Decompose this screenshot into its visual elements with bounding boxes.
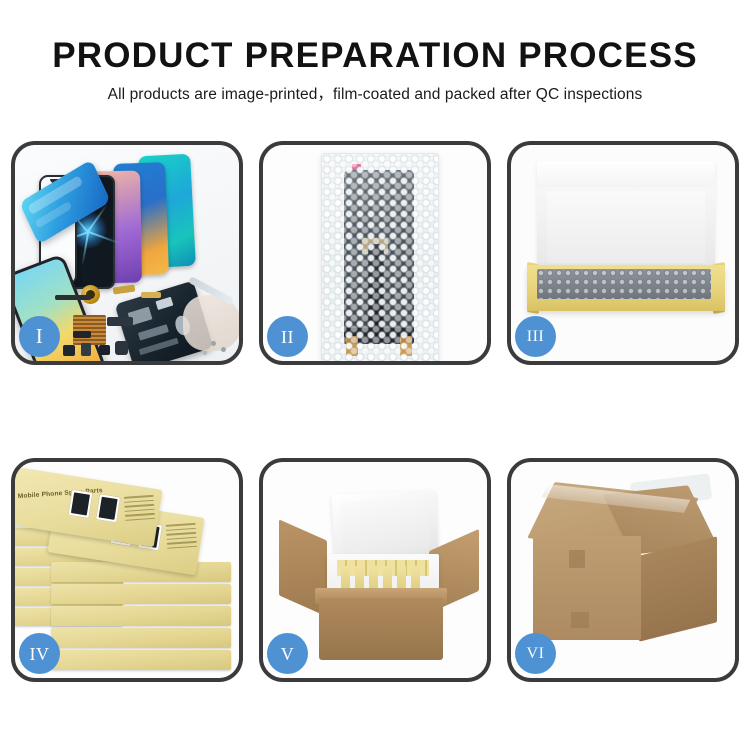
mesh-component-icon [73, 315, 106, 345]
bubble-texture [322, 154, 438, 361]
flex-cable-icon [73, 331, 91, 338]
header: PRODUCT PREPARATION PROCESS All products… [0, 0, 750, 105]
bubble-wrap-bag-icon [321, 153, 439, 361]
flex-cable-icon [107, 317, 133, 326]
foam-lid-icon [537, 161, 715, 273]
earpiece-mesh-icon [55, 295, 91, 300]
step-badge-3: III [515, 316, 556, 357]
process-step-4: Mobile Phone Spare Parts Mobile Phone Sp… [11, 458, 243, 682]
process-step-1: I [11, 141, 243, 365]
process-step-grid: I II [11, 141, 739, 739]
flex-cable-icon [113, 285, 136, 295]
page-subtitle: All products are image-printed，film-coat… [0, 76, 750, 105]
screw-icon [221, 347, 226, 352]
carton-front-icon [319, 598, 443, 660]
step-badge-2: II [267, 316, 308, 357]
ic-chip-icon [99, 345, 110, 355]
bubble-wrapped-contents-icon [537, 269, 711, 299]
process-step-5: V [259, 458, 491, 682]
screw-icon [211, 341, 216, 346]
product-preparation-infographic: PRODUCT PREPARATION PROCESS All products… [0, 0, 750, 750]
step-badge-4: IV [19, 633, 60, 674]
step-badge-1: I [19, 316, 60, 357]
carton-side-icon [639, 536, 717, 641]
camera-module-icon [115, 341, 128, 355]
ic-chip-icon [63, 345, 75, 356]
ic-chip-icon [81, 343, 91, 356]
screw-icon [203, 351, 207, 355]
process-step-2: II [259, 141, 491, 365]
step-badge-5: V [267, 633, 308, 674]
process-step-6: VI [507, 458, 739, 682]
page-title: PRODUCT PREPARATION PROCESS [0, 0, 750, 76]
foam-lid-open-icon [331, 489, 438, 560]
step-badge-6: VI [515, 633, 556, 674]
tape-tab-icon [569, 550, 585, 568]
flex-cable-icon [141, 292, 161, 298]
tape-tab-icon [571, 612, 589, 628]
process-step-3: III [507, 141, 739, 365]
